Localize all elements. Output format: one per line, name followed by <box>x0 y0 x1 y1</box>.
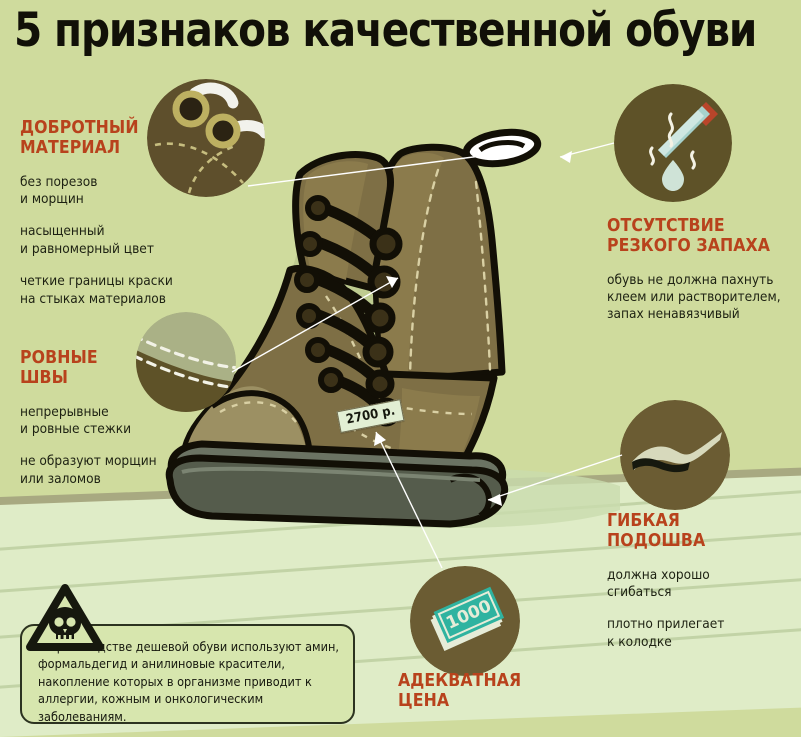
feature-point: насыщенный и равномерный цвет <box>20 223 235 258</box>
feature-heading: ОТСУТСТВИЕ РЕЗКОГО ЗАПАХА <box>607 216 797 257</box>
feature-block-seams: РОВНЫЕ ШВЫ непрерывные и ровные стежки н… <box>20 348 225 488</box>
icon-circle-price: 1000 <box>410 566 520 676</box>
feature-heading: ДОБРОТНЫЙ МАТЕРИАЛ <box>20 118 235 159</box>
feature-point: без порезов и морщин <box>20 174 235 209</box>
feature-point: должна хорошо сгибаться <box>607 567 797 602</box>
skull-hazard-icon <box>26 583 104 653</box>
icon-circle-smell <box>614 84 732 202</box>
infographic-poster: 5 признаков качественной обуви <box>0 0 801 737</box>
feature-point: четкие границы краски на стыках материал… <box>20 273 235 308</box>
feature-heading: ГИБКАЯ ПОДОШВА <box>607 511 797 552</box>
feature-block-sole: ГИБКАЯ ПОДОШВА должна хорошо сгибаться п… <box>607 511 797 651</box>
feature-point: обувь не должна пахнуть клеем или раство… <box>607 272 797 324</box>
feature-block-price: АДЕКВАТНАЯ ЦЕНА <box>398 671 578 712</box>
pull-tab <box>464 128 539 168</box>
feature-point: не образуют морщин или заломов <box>20 453 225 488</box>
feature-heading: АДЕКВАТНАЯ ЦЕНА <box>398 671 578 712</box>
feature-point: плотно прилегает к колодке <box>607 616 797 651</box>
feature-point: непрерывные и ровные стежки <box>20 404 225 439</box>
feature-block-material: ДОБРОТНЫЙ МАТЕРИАЛ без порезов и морщин … <box>20 118 235 308</box>
icon-circle-sole <box>620 400 730 510</box>
poster-title-bar: 5 признаков качественной обуви <box>0 0 801 60</box>
feature-heading: РОВНЫЕ ШВЫ <box>20 348 225 389</box>
page-title: 5 признаков качественной обуви <box>14 3 756 58</box>
feature-block-smell: ОТСУТСТВИЕ РЕЗКОГО ЗАПАХА обувь не должн… <box>607 216 797 324</box>
